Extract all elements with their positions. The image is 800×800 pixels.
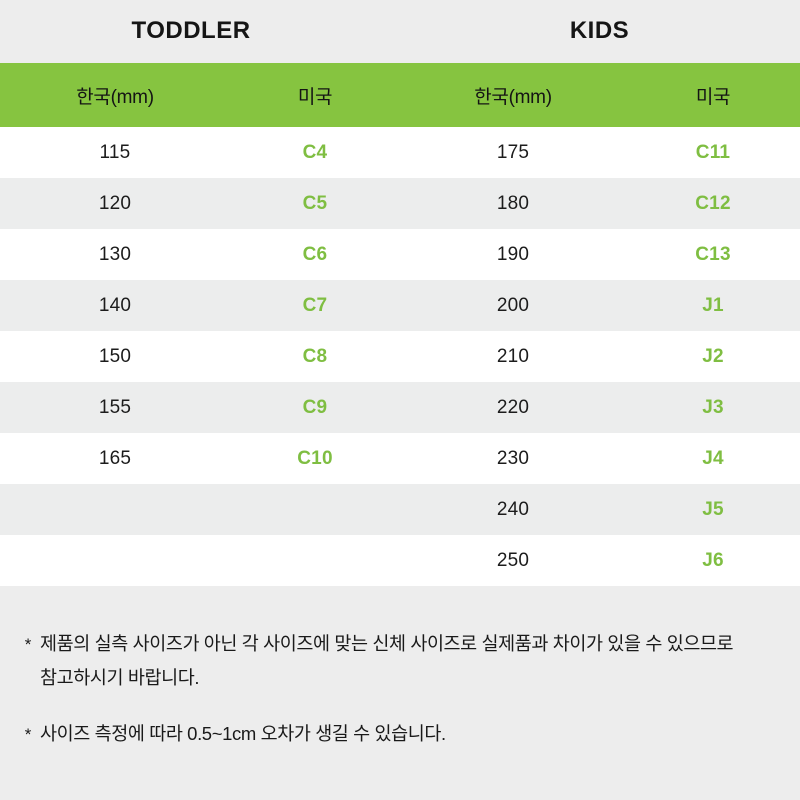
cell-toddler-us: C7 <box>230 295 400 317</box>
cell-kids-us-value: J5 <box>702 499 724 520</box>
footnote-text: 제품의 실측 사이즈가 아닌 각 사이즈에 맞는 신체 사이즈로 실제품과 차이… <box>40 627 740 695</box>
cell-kids-korea-value: 175 <box>497 142 529 163</box>
cell-kids-korea: 180 <box>400 193 626 215</box>
table-row: 165C10230J4 <box>0 433 800 484</box>
column-header-toddler-korea: 한국(mm) <box>0 82 230 109</box>
cell-toddler-korea: 130 <box>0 244 230 266</box>
cell-toddler-us: C8 <box>230 346 400 368</box>
cell-kids-korea-value: 230 <box>497 448 529 469</box>
cell-kids-us-value: J3 <box>702 397 724 418</box>
cell-kids-korea-value: 180 <box>497 193 529 214</box>
cell-kids-korea: 200 <box>400 295 626 317</box>
cell-kids-us-value: J6 <box>702 550 724 571</box>
table-row: 120C5180C12 <box>0 178 800 229</box>
cell-kids-us: C12 <box>626 193 800 215</box>
column-header-row: 한국(mm) 미국 한국(mm) 미국 <box>0 63 800 127</box>
cell-toddler-us: C4 <box>230 142 400 164</box>
table-row: 155C9220J3 <box>0 382 800 433</box>
cell-kids-us-value: C13 <box>695 244 730 265</box>
cell-kids-us-value: C11 <box>696 142 730 163</box>
group-title-toddler: TODDLER <box>0 0 400 63</box>
cell-toddler-korea: 150 <box>0 346 230 368</box>
cell-kids-us: J1 <box>626 295 800 317</box>
size-table-body: 115C4175C11120C5180C12130C6190C13140C720… <box>0 127 800 586</box>
cell-kids-us-value: C12 <box>695 193 730 214</box>
cell-toddler-korea: 140 <box>0 295 230 317</box>
cell-kids-korea-value: 200 <box>497 295 529 316</box>
cell-kids-korea: 240 <box>400 499 626 521</box>
cell-kids-korea-value: 220 <box>497 397 529 418</box>
cell-kids-korea-value: 250 <box>497 550 529 571</box>
cell-toddler-korea: 120 <box>0 193 230 215</box>
cell-toddler-korea-value: 155 <box>99 397 131 418</box>
cell-kids-us: C11 <box>626 142 800 164</box>
cell-toddler-korea-value: 150 <box>99 346 131 367</box>
cell-toddler-us-value: C4 <box>303 142 328 163</box>
cell-toddler-us-value: C10 <box>297 448 332 469</box>
table-row: 140C7200J1 <box>0 280 800 331</box>
cell-kids-korea-value: 240 <box>497 499 529 520</box>
column-header-kids-us: 미국 <box>626 82 800 109</box>
cell-toddler-us-value: C5 <box>303 193 328 214</box>
cell-toddler-korea-value: 120 <box>99 193 131 214</box>
footnote-list: *제품의 실측 사이즈가 아닌 각 사이즈에 맞는 신체 사이즈로 실제품과 차… <box>0 589 800 800</box>
footnote: *사이즈 측정에 따라 0.5~1cm 오차가 생길 수 있습니다. <box>16 717 766 752</box>
group-title-kids: KIDS <box>400 0 800 63</box>
asterisk-icon: * <box>16 717 40 752</box>
cell-kids-us: J3 <box>626 397 800 419</box>
cell-kids-us-value: J4 <box>702 448 724 469</box>
column-header-kids-korea: 한국(mm) <box>400 82 626 109</box>
cell-kids-us: C13 <box>626 244 800 266</box>
cell-toddler-korea-value: 140 <box>99 295 131 316</box>
cell-toddler-us-value: C9 <box>303 397 328 418</box>
table-row: 250J6 <box>0 535 800 586</box>
cell-toddler-us: C9 <box>230 397 400 419</box>
cell-toddler-us: C10 <box>230 448 400 470</box>
cell-kids-us-value: J2 <box>702 346 724 367</box>
cell-kids-korea: 190 <box>400 244 626 266</box>
cell-kids-us: J5 <box>626 499 800 521</box>
footnote-text: 사이즈 측정에 따라 0.5~1cm 오차가 생길 수 있습니다. <box>40 717 740 751</box>
column-header-toddler-us: 미국 <box>230 82 400 109</box>
cell-kids-korea: 220 <box>400 397 626 419</box>
cell-kids-us: J4 <box>626 448 800 470</box>
size-chart: TODDLER KIDS 한국(mm) 미국 한국(mm) 미국 115C417… <box>0 0 800 800</box>
cell-kids-korea-value: 210 <box>497 346 529 367</box>
cell-kids-korea: 250 <box>400 550 626 572</box>
cell-toddler-korea-value: 115 <box>100 142 131 163</box>
cell-kids-korea-value: 190 <box>497 244 529 265</box>
table-row: 115C4175C11 <box>0 127 800 178</box>
group-title-row: TODDLER KIDS <box>0 0 800 63</box>
cell-toddler-us-value: C8 <box>303 346 328 367</box>
table-row: 240J5 <box>0 484 800 535</box>
cell-toddler-korea: 165 <box>0 448 230 470</box>
cell-toddler-us-value: C6 <box>303 244 328 265</box>
cell-kids-korea: 210 <box>400 346 626 368</box>
cell-kids-korea: 175 <box>400 142 626 164</box>
cell-toddler-korea-value: 165 <box>99 448 131 469</box>
cell-toddler-korea: 115 <box>0 142 230 164</box>
cell-toddler-us: C5 <box>230 193 400 215</box>
cell-toddler-us: C6 <box>230 244 400 266</box>
cell-kids-us: J2 <box>626 346 800 368</box>
asterisk-icon: * <box>16 627 40 662</box>
cell-kids-korea: 230 <box>400 448 626 470</box>
cell-toddler-korea: 155 <box>0 397 230 419</box>
table-row: 150C8210J2 <box>0 331 800 382</box>
footnote: *제품의 실측 사이즈가 아닌 각 사이즈에 맞는 신체 사이즈로 실제품과 차… <box>16 627 766 695</box>
cell-toddler-korea-value: 130 <box>99 244 131 265</box>
cell-toddler-us-value: C7 <box>303 295 328 316</box>
cell-kids-us: J6 <box>626 550 800 572</box>
table-row: 130C6190C13 <box>0 229 800 280</box>
cell-kids-us-value: J1 <box>702 295 724 316</box>
